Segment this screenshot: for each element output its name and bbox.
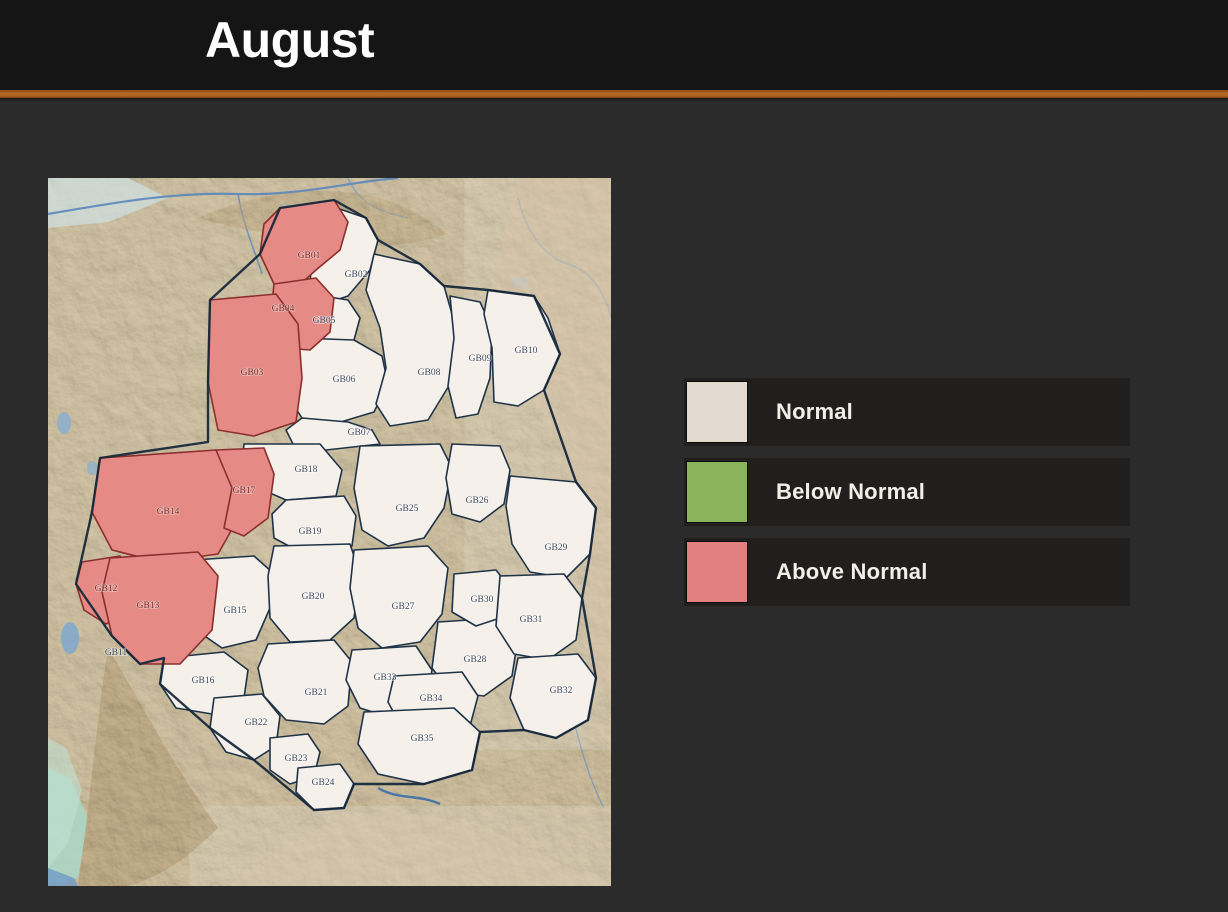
svg-text:GB20: GB20 [302,592,325,602]
svg-text:GB10: GB10 [515,346,538,356]
legend-swatch-below-normal [686,461,748,523]
predictive-services-map[interactable]: GB01 GB02 GB03 GB04 GB05 GB06 GB07 GB08 … [48,178,611,886]
legend-swatch-normal [686,381,748,443]
svg-text:GB21: GB21 [305,688,328,698]
svg-text:GB16: GB16 [192,676,215,686]
svg-text:GB27: GB27 [392,602,415,612]
svg-text:GB04: GB04 [272,304,295,314]
header-shadow [0,98,1228,102]
svg-text:GB07: GB07 [348,428,371,438]
svg-text:GB29: GB29 [545,543,568,553]
map-legend: Normal Below Normal Above Normal [684,378,1130,618]
svg-text:GB31: GB31 [520,615,543,625]
svg-text:GB23: GB23 [285,754,308,764]
svg-text:GB05: GB05 [313,316,336,326]
svg-text:GB09: GB09 [469,354,492,364]
page-header: August [0,0,1228,90]
legend-label-normal: Normal [776,399,853,425]
legend-label-below-normal: Below Normal [776,479,925,505]
svg-text:GB12: GB12 [95,584,118,594]
svg-text:GB17: GB17 [233,486,256,496]
svg-text:GB30: GB30 [471,595,494,605]
svg-text:GB35: GB35 [411,734,434,744]
svg-text:GB34: GB34 [420,694,443,704]
svg-text:GB28: GB28 [464,655,487,665]
svg-text:GB26: GB26 [466,496,489,506]
svg-text:GB06: GB06 [333,375,356,385]
svg-text:GB14: GB14 [157,507,180,517]
svg-text:GB11: GB11 [105,648,128,658]
svg-text:GB25: GB25 [396,504,419,514]
svg-text:GB03: GB03 [241,368,264,378]
svg-text:GB24: GB24 [312,778,335,788]
legend-item-below-normal[interactable]: Below Normal [684,458,1130,526]
header-accent-bar [0,90,1228,98]
legend-label-above-normal: Above Normal [776,559,928,585]
map-graphic: GB01 GB02 GB03 GB04 GB05 GB06 GB07 GB08 … [48,178,611,886]
legend-item-above-normal[interactable]: Above Normal [684,538,1130,606]
svg-text:GB15: GB15 [224,606,247,616]
legend-swatch-above-normal [686,541,748,603]
svg-text:GB19: GB19 [299,527,322,537]
svg-text:GB32: GB32 [550,686,573,696]
svg-text:GB18: GB18 [295,465,318,475]
page-title: August [205,9,374,71]
svg-text:GB02: GB02 [345,270,368,280]
svg-text:GB01: GB01 [298,251,321,261]
legend-item-normal[interactable]: Normal [684,378,1130,446]
svg-text:GB22: GB22 [245,718,268,728]
svg-text:GB13: GB13 [137,601,160,611]
svg-text:GB33: GB33 [374,673,397,683]
svg-text:GB08: GB08 [418,368,441,378]
